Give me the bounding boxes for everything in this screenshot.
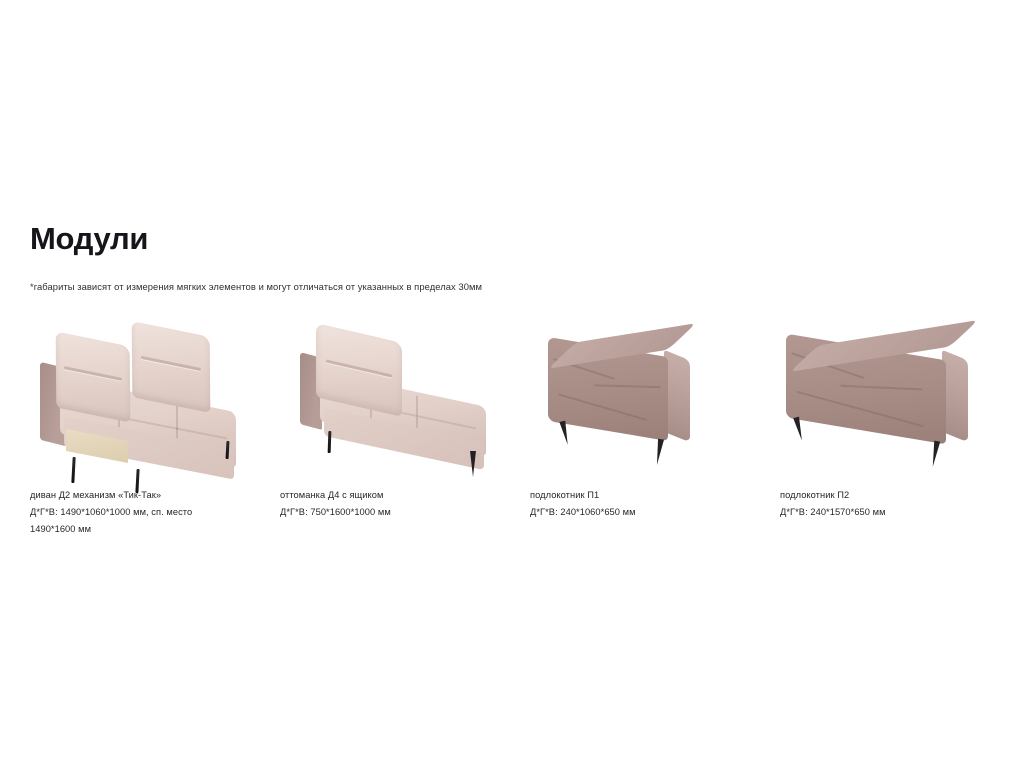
module-name: диван Д2 механизм «Тик-Так» [30,487,270,504]
page-title: Модули [30,222,990,256]
module-card-sofa-d2[interactable]: диван Д2 механизм «Тик-Так» Д*Г*В: 1490*… [30,325,270,538]
ottoman-leg-front-right [470,451,476,477]
sofa-back-cushion-left [56,331,131,422]
module-name: подлокотник П1 [530,487,770,504]
module-caption: подлокотник П1 Д*Г*В: 240*1060*650 мм [530,475,770,521]
module-caption: оттоманка Д4 с ящиком Д*Г*В: 750*1600*10… [280,475,520,521]
module-image-sofa-d2 [30,325,260,475]
module-name: подлокотник П2 [780,487,1020,504]
modules-page: Модули *габариты зависят от измерения мя… [0,0,1024,768]
module-card-armrest-p2[interactable]: подлокотник П2 Д*Г*В: 240*1570*650 мм [780,325,1020,538]
module-card-armrest-p1[interactable]: подлокотник П1 Д*Г*В: 240*1060*650 мм [530,325,770,538]
armrest-p1-illustration [548,333,738,473]
module-card-ottoman-d4[interactable]: оттоманка Д4 с ящиком Д*Г*В: 750*1600*10… [280,325,520,538]
armrest-leg-right [654,439,664,466]
dimensions-disclaimer: *габариты зависят от измерения мягких эл… [30,256,990,294]
module-dimensions: Д*Г*В: 750*1600*1000 мм [280,504,520,521]
modules-grid: диван Д2 механизм «Тик-Так» Д*Г*В: 1490*… [30,325,1010,538]
module-dimensions: Д*Г*В: 240*1570*650 мм [780,504,1020,521]
module-dimensions: Д*Г*В: 1490*1060*1000 мм, сп. место [30,504,270,521]
module-image-ottoman-d4 [280,325,510,475]
module-image-armrest-p2 [780,325,1010,475]
ottoman-leg-back-left [328,431,332,453]
module-dimensions-extra: 1490*1600 мм [30,521,270,538]
module-image-armrest-p1 [530,325,760,475]
module-caption: диван Д2 механизм «Тик-Так» Д*Г*В: 1490*… [30,475,270,538]
armrest-p2-illustration [786,333,1006,473]
module-dimensions: Д*Г*В: 240*1060*650 мм [530,504,770,521]
heading-block: Модули *габариты зависят от измерения мя… [30,222,990,294]
armrest-leg-right [930,441,940,468]
module-caption: подлокотник П2 Д*Г*В: 240*1570*650 мм [780,475,1020,521]
ottoman-illustration [294,327,504,477]
sofa-illustration [38,329,253,475]
sofa-back-cushion-right [132,321,211,413]
module-name: оттоманка Д4 с ящиком [280,487,520,504]
